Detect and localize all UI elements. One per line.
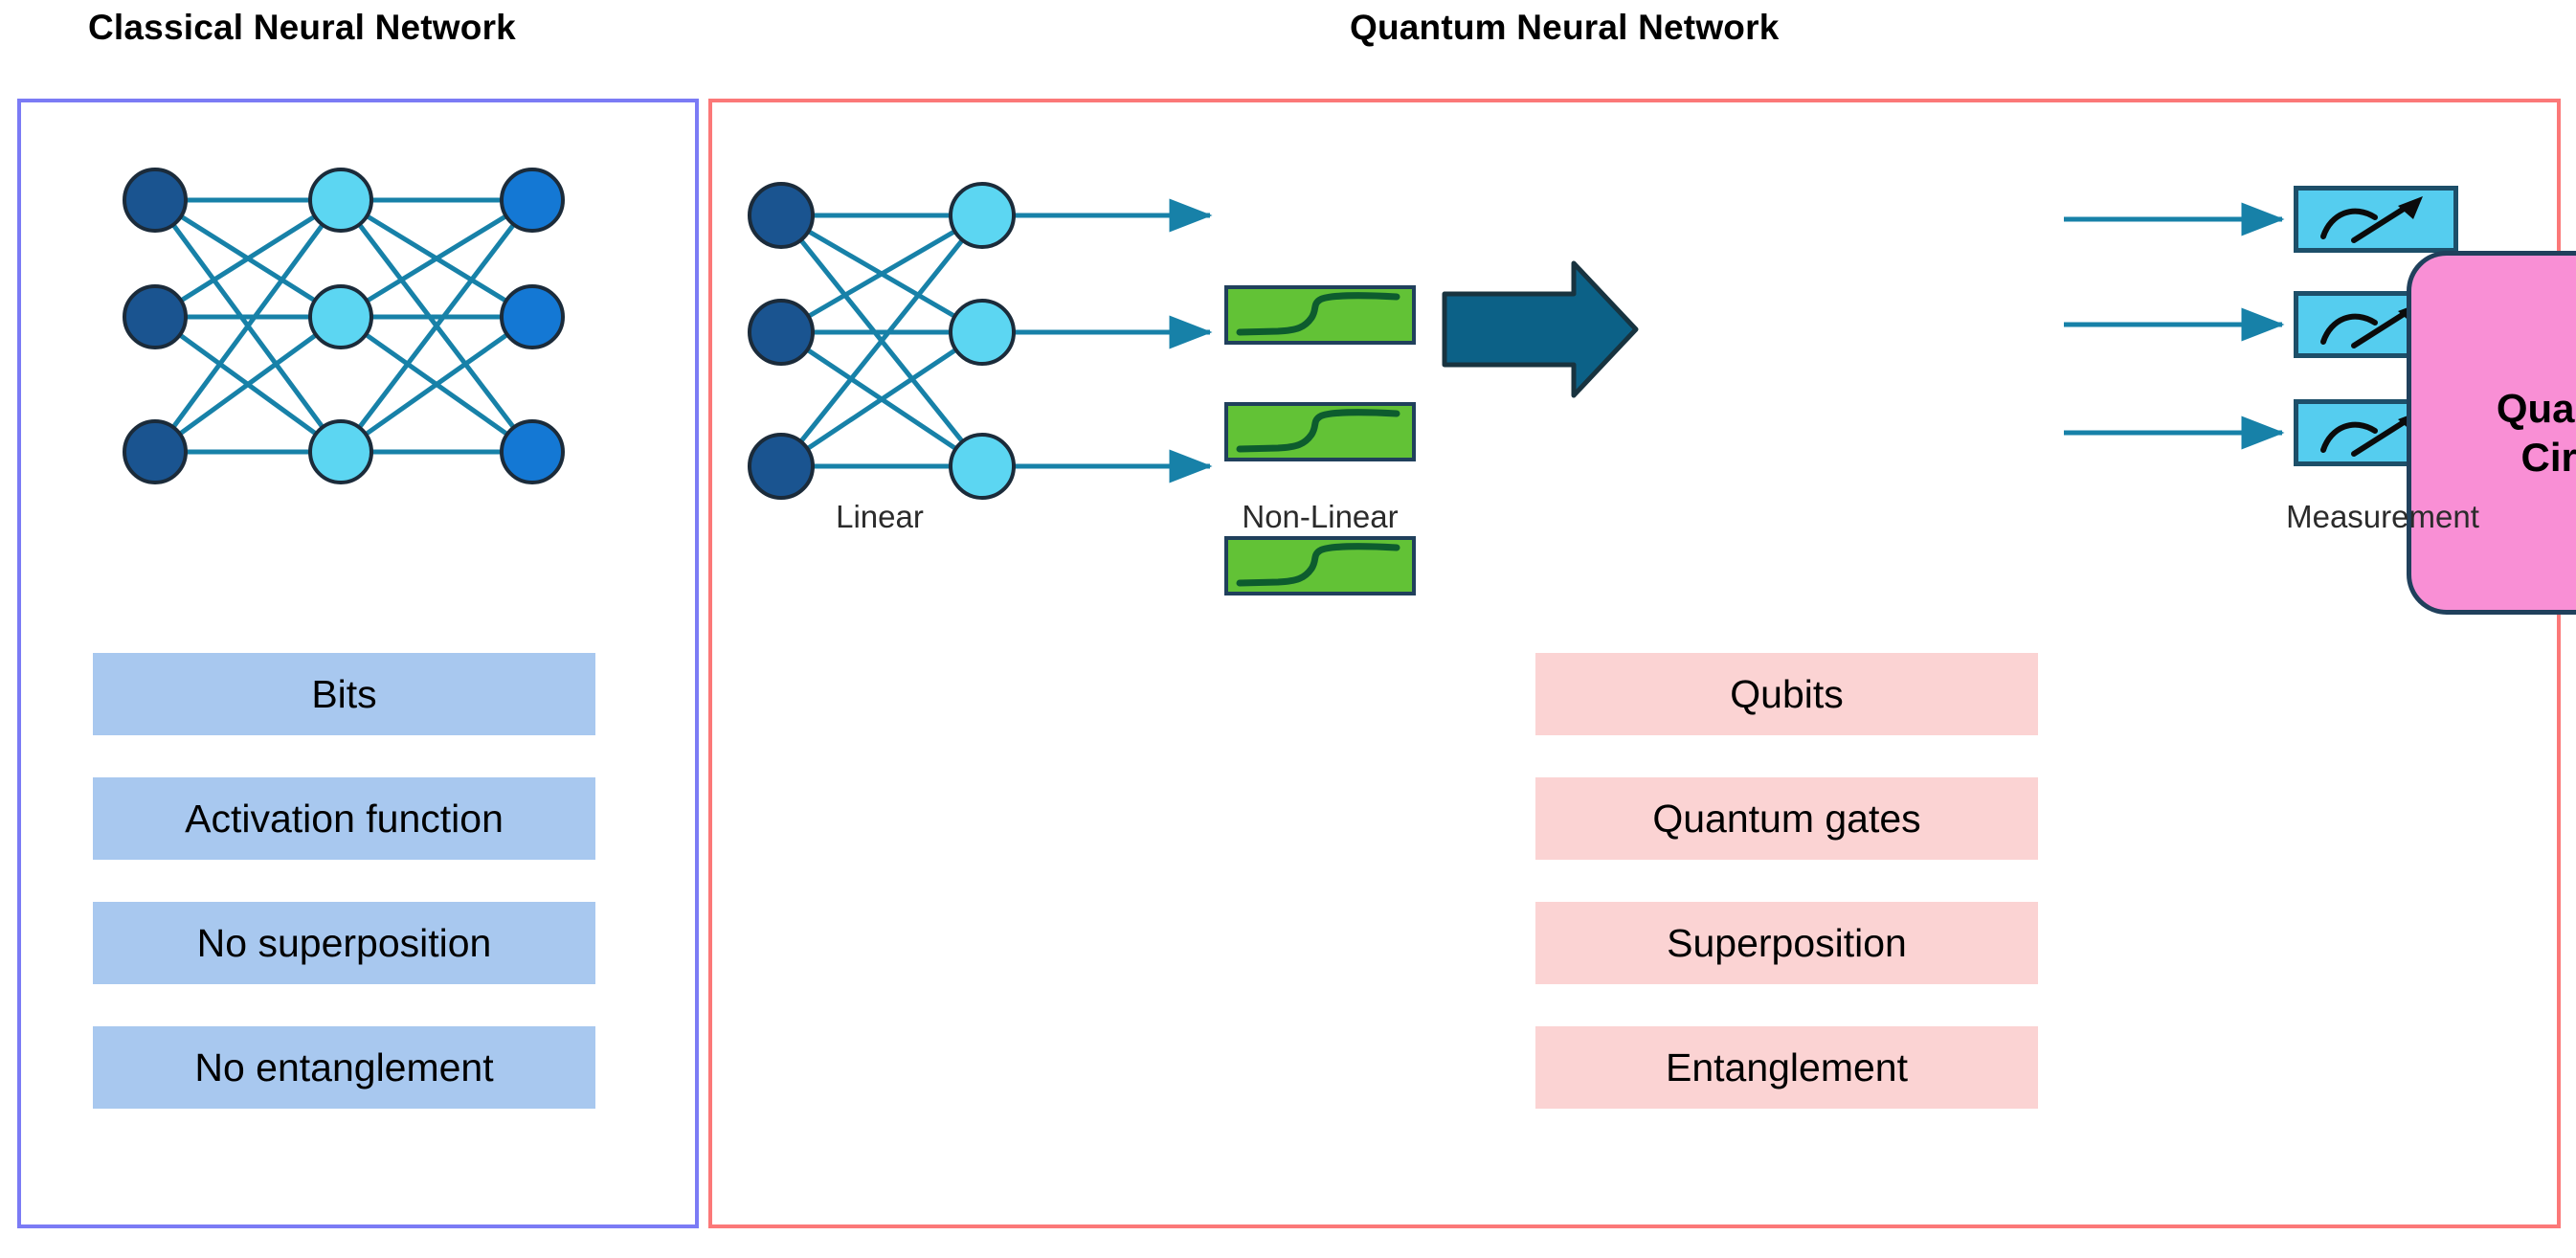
input-node: [750, 184, 813, 247]
quantum-measurement-arrows: [2064, 219, 2282, 433]
quantum-linear-edges: [781, 215, 982, 466]
output-node: [502, 286, 563, 348]
quantum-feature-chip-3: Entanglement: [1535, 1026, 2038, 1109]
classical-feature-chip-3: No entanglement: [93, 1026, 595, 1109]
classical-nodes: [124, 169, 563, 483]
classical-feature-chip-2: No superposition: [93, 902, 595, 984]
quantum-nodes: [750, 184, 1014, 498]
quantum-circuit-block: Quantum Circuit: [2407, 251, 2576, 615]
input-node: [750, 301, 813, 364]
input-node: [124, 169, 186, 231]
stage-caption-nonlinear: Non-Linear: [1181, 499, 1459, 535]
quantum-panel: Quantum Circuit Linear Non-Linear Measur…: [708, 99, 2561, 1228]
hidden-node: [310, 169, 371, 231]
nonlinear-activation-box: [1224, 285, 1416, 345]
stage-caption-linear: Linear: [750, 499, 1009, 535]
stage-caption-measurement: Measurement: [2244, 499, 2521, 535]
page-title-classical: Classical Neural Network: [88, 8, 516, 48]
measurement-gauge-icon: [2298, 191, 2453, 248]
hidden-node: [951, 301, 1014, 364]
chip-label: Activation function: [185, 797, 504, 842]
output-node: [502, 169, 563, 231]
input-node: [750, 435, 813, 498]
diagram-canvas: Classical Neural Network Quantum Neural …: [0, 0, 2576, 1258]
classical-network-graph: [21, 102, 703, 505]
quantum-circuit-label-line1: Quantum: [2497, 384, 2576, 433]
chip-label: Entanglement: [1666, 1045, 1908, 1090]
chip-label: Qubits: [1730, 672, 1844, 717]
input-node: [124, 421, 186, 483]
chip-label: No superposition: [197, 921, 492, 966]
classical-panel: Bits Activation function No superpositio…: [17, 99, 699, 1228]
quantum-feature-chip-1: Quantum gates: [1535, 777, 2038, 860]
sigmoid-curve-icon: [1228, 540, 1412, 592]
quantum-circuit-label-line2: Circuit: [2520, 433, 2576, 482]
nonlinear-activation-box: [1224, 402, 1416, 461]
hidden-node: [951, 435, 1014, 498]
chip-label: Bits: [311, 672, 376, 717]
quantum-feature-chip-2: Superposition: [1535, 902, 2038, 984]
sigmoid-curve-icon: [1228, 406, 1412, 458]
classical-edges: [155, 200, 532, 452]
chip-label: No entanglement: [194, 1045, 493, 1090]
hidden-node: [310, 421, 371, 483]
input-node: [124, 286, 186, 348]
classical-feature-chip-0: Bits: [93, 653, 595, 735]
hidden-node: [951, 184, 1014, 247]
classical-feature-chip-1: Activation function: [93, 777, 595, 860]
quantum-feature-chip-0: Qubits: [1535, 653, 2038, 735]
chip-label: Quantum gates: [1652, 797, 1920, 842]
nonlinear-activation-box: [1224, 536, 1416, 595]
quantum-network-graph: [712, 102, 2565, 533]
chip-label: Superposition: [1667, 921, 1907, 966]
page-title-quantum: Quantum Neural Network: [1350, 8, 1779, 48]
quantum-activation-arrows: [982, 215, 1210, 466]
hidden-node: [310, 286, 371, 348]
sigmoid-curve-icon: [1228, 289, 1412, 341]
measurement-box: [2294, 186, 2458, 253]
output-node: [502, 421, 563, 483]
pipeline-arrow-icon: [1445, 263, 1636, 395]
